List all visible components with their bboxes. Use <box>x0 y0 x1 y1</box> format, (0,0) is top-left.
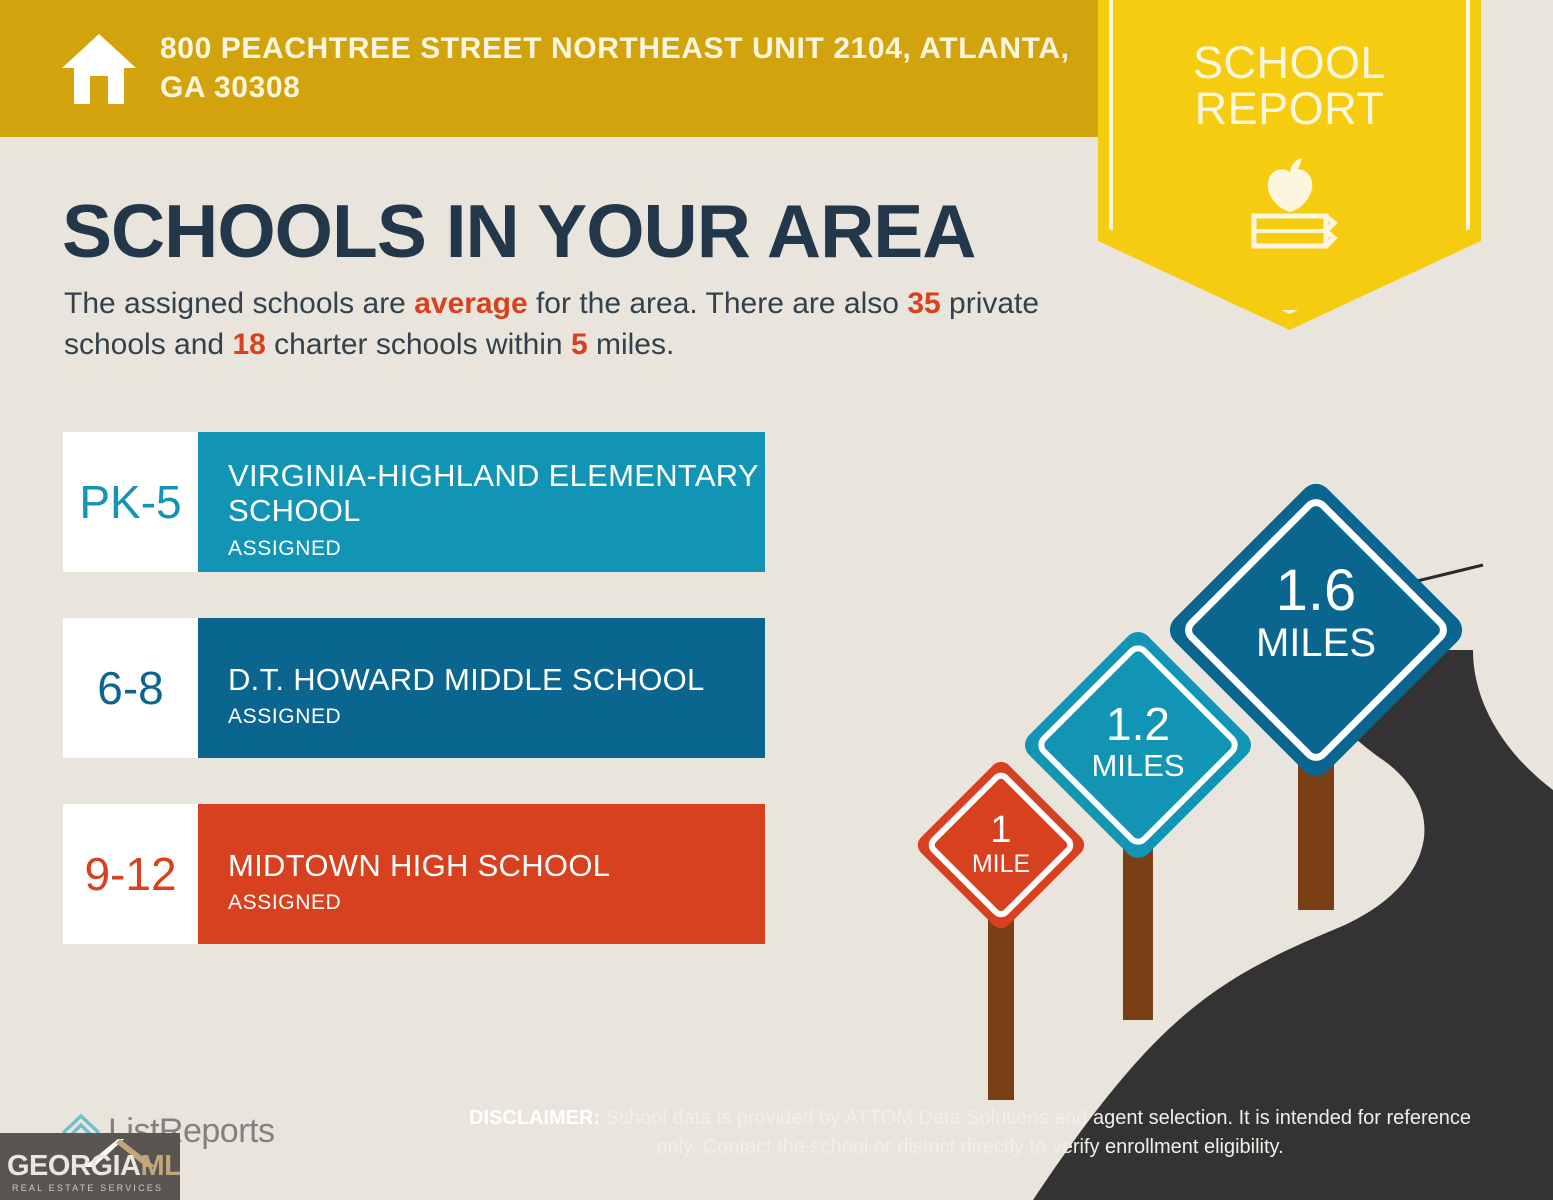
summary-part-5: miles. <box>588 328 675 361</box>
charter-school-count: 18 <box>232 328 265 361</box>
mls-tagline: REAL ESTATE SERVICES <box>12 1183 163 1193</box>
mls-wordmark-primary: GEORGIA <box>7 1150 140 1182</box>
school-name: MIDTOWN HIGH SCHOOL <box>228 849 765 884</box>
summary-text: The assigned schools are average for the… <box>64 283 1094 366</box>
grade-badge: 9-12 <box>63 804 198 944</box>
badge-line-2: REPORT <box>1098 86 1481 132</box>
disclaimer-body: School data is provided by ATTOM Data So… <box>600 1107 1471 1158</box>
sign-distance-value: 1.6 <box>1276 558 1357 623</box>
grade-badge: 6-8 <box>63 618 198 758</box>
georgia-mls-logo[interactable]: GEORGIAMLS REAL ESTATE SERVICES <box>0 1133 180 1200</box>
school-name: VIRGINIA-HIGHLAND ELEMENTARY SCHOOL <box>228 459 765 528</box>
sign-post <box>988 900 1014 1100</box>
radius-miles: 5 <box>571 328 588 361</box>
summary-part-1: The assigned schools are <box>64 287 414 320</box>
sign-distance-unit: MILE <box>972 850 1030 878</box>
school-status: ASSIGNED <box>228 891 765 915</box>
sign-distance-unit: MILES <box>1256 621 1376 665</box>
antenna-wire <box>1413 565 1483 582</box>
house-icon <box>60 32 138 106</box>
school-name: D.T. HOWARD MIDDLE SCHOOL <box>228 663 765 698</box>
header-bar: 800 PEACHTREE STREET NORTHEAST UNIT 2104… <box>0 0 1255 137</box>
sign-distance-unit: MILES <box>1091 748 1184 783</box>
apple-on-books-icon <box>1230 150 1350 260</box>
school-report-badge: SCHOOL REPORT <box>1098 0 1481 330</box>
badge-line-1: SCHOOL <box>1098 40 1481 86</box>
badge-label: SCHOOL REPORT <box>1098 40 1481 132</box>
private-school-count: 35 <box>907 287 940 320</box>
school-card-middle[interactable]: 6-8 D.T. HOWARD MIDDLE SCHOOL ASSIGNED <box>63 618 765 758</box>
sign-post <box>1123 830 1153 1020</box>
school-list: PK-5 VIRGINIA-HIGHLAND ELEMENTARY SCHOOL… <box>63 432 765 990</box>
sign-distance-value: 1 <box>990 809 1011 851</box>
mls-wordmark: GEORGIAMLS <box>7 1150 180 1183</box>
property-address: 800 PEACHTREE STREET NORTHEAST UNIT 2104… <box>160 30 1120 107</box>
school-status: ASSIGNED <box>228 705 765 729</box>
school-card-body: VIRGINIA-HIGHLAND ELEMENTARY SCHOOL ASSI… <box>198 432 765 572</box>
mls-wordmark-secondary: MLS <box>140 1150 180 1182</box>
school-card-elementary[interactable]: PK-5 VIRGINIA-HIGHLAND ELEMENTARY SCHOOL… <box>63 432 765 572</box>
road-illustration: 1.6 MILES 1.2 MILES 1 MILE <box>913 460 1553 1200</box>
page-title: SCHOOLS IN YOUR AREA <box>62 188 975 274</box>
school-status: ASSIGNED <box>228 537 765 561</box>
school-card-high[interactable]: 9-12 MIDTOWN HIGH SCHOOL ASSIGNED <box>63 804 765 944</box>
summary-part-2: for the area. There are also <box>528 287 908 320</box>
grade-badge: PK-5 <box>63 432 198 572</box>
road-sign-1: 1 MILE <box>913 757 1088 1100</box>
summary-part-4: charter schools within <box>266 328 571 361</box>
rating-value: average <box>414 287 527 320</box>
school-card-body: MIDTOWN HIGH SCHOOL ASSIGNED <box>198 804 765 944</box>
school-card-body: D.T. HOWARD MIDDLE SCHOOL ASSIGNED <box>198 618 765 758</box>
disclaimer: DISCLAIMER: School data is provided by A… <box>455 1104 1485 1162</box>
sign-distance-value: 1.2 <box>1106 698 1170 750</box>
disclaimer-label: DISCLAIMER: <box>469 1107 600 1129</box>
